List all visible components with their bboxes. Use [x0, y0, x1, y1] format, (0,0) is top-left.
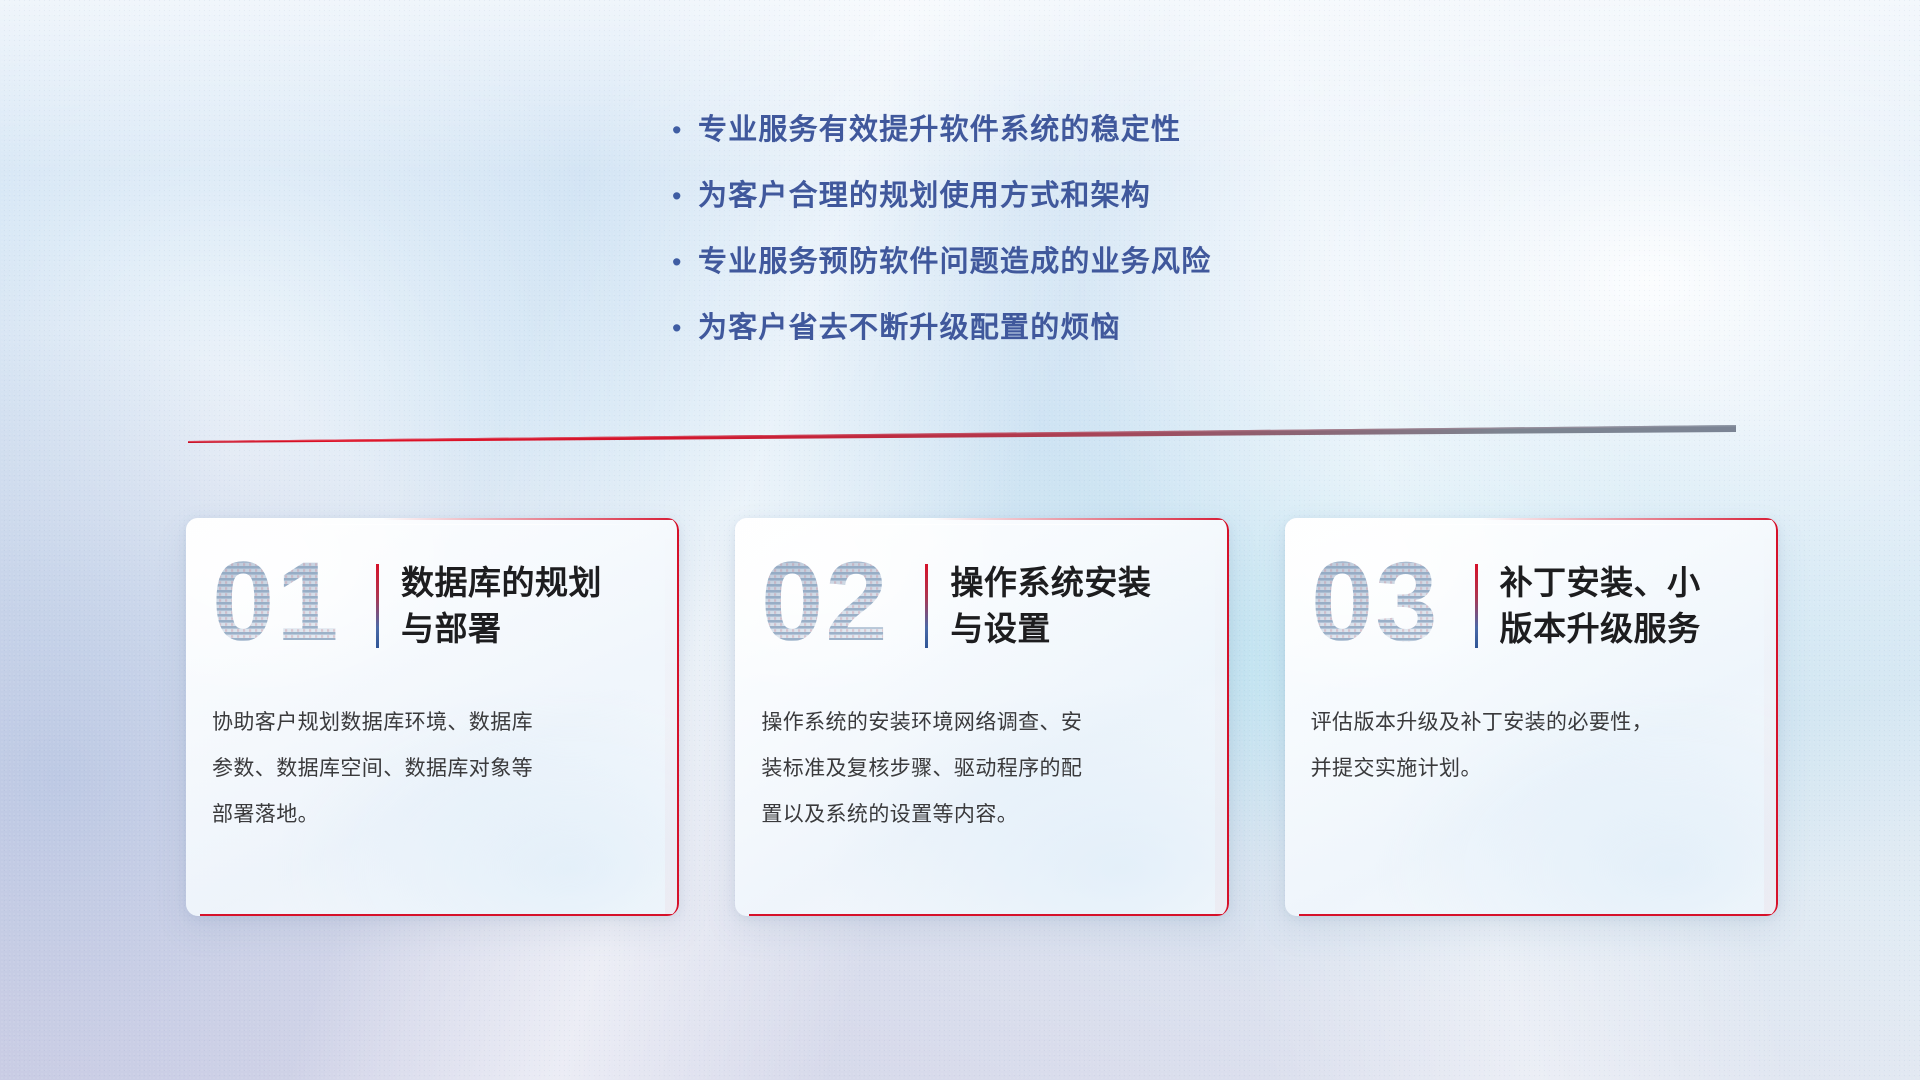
bullet-item-label: 为客户省去不断升级配置的烦恼	[698, 308, 1121, 348]
bullet-item-label: 专业服务有效提升软件系统的稳定性	[698, 110, 1181, 150]
card-title-separator	[376, 564, 379, 648]
card-title: 操作系统安装 与设置	[950, 560, 1151, 652]
service-card[interactable]: 01 数据库的规划 与部署 协助客户规划数据库环境、数据库 参数、数据库空间、数…	[186, 518, 679, 916]
service-card[interactable]: 03 补丁安装、小 版本升级服务 评估版本升级及补丁安装的必要性， 并提交实施计…	[1285, 518, 1778, 916]
card-header: 03 补丁安装、小 版本升级服务	[1285, 518, 1778, 694]
bullet-dot-icon: •	[672, 176, 698, 216]
bullet-item: • 专业服务预防软件问题造成的业务风险	[672, 242, 1432, 282]
bullet-dot-icon: •	[672, 110, 698, 150]
bullet-dot-icon: •	[672, 308, 698, 348]
card-header: 01 数据库的规划 与部署	[186, 518, 679, 694]
bullet-item: • 专业服务有效提升软件系统的稳定性	[672, 110, 1432, 150]
card-title: 数据库的规划 与部署	[401, 560, 602, 652]
bullet-item-label: 专业服务预防软件问题造成的业务风险	[698, 242, 1211, 282]
card-accent-bottom	[200, 914, 679, 917]
card-description: 评估版本升级及补丁安装的必要性， 并提交实施计划。	[1285, 694, 1778, 792]
card-description: 操作系统的安装环境网络调查、安 装标准及复核步骤、驱动程序的配 置以及系统的设置…	[735, 694, 1228, 838]
card-accent-bottom	[749, 914, 1228, 917]
service-cards-row: 01 数据库的规划 与部署 协助客户规划数据库环境、数据库 参数、数据库空间、数…	[186, 518, 1778, 916]
slide-stage: • 专业服务有效提升软件系统的稳定性 • 为客户合理的规划使用方式和架构 • 专…	[0, 0, 1920, 1080]
card-title-separator	[1475, 564, 1478, 648]
bullet-item: • 为客户省去不断升级配置的烦恼	[672, 308, 1432, 348]
card-number-graphic: 01	[212, 554, 364, 658]
card-description: 协助客户规划数据库环境、数据库 参数、数据库空间、数据库对象等 部署落地。	[186, 694, 679, 838]
bullet-item-label: 为客户合理的规划使用方式和架构	[698, 176, 1151, 216]
card-header: 02 操作系统安装 与设置	[735, 518, 1228, 694]
benefits-bullet-list: • 专业服务有效提升软件系统的稳定性 • 为客户合理的规划使用方式和架构 • 专…	[672, 110, 1432, 374]
card-number-graphic: 02	[761, 554, 913, 658]
card-accent-bottom	[1299, 914, 1778, 917]
card-title-separator	[925, 564, 928, 648]
bullet-item: • 为客户合理的规划使用方式和架构	[672, 176, 1432, 216]
section-divider	[188, 422, 1736, 444]
card-number-graphic: 03	[1311, 554, 1463, 658]
bullet-dot-icon: •	[672, 242, 698, 282]
card-title: 补丁安装、小 版本升级服务	[1500, 560, 1701, 652]
service-card[interactable]: 02 操作系统安装 与设置 操作系统的安装环境网络调查、安 装标准及复核步骤、驱…	[735, 518, 1228, 916]
